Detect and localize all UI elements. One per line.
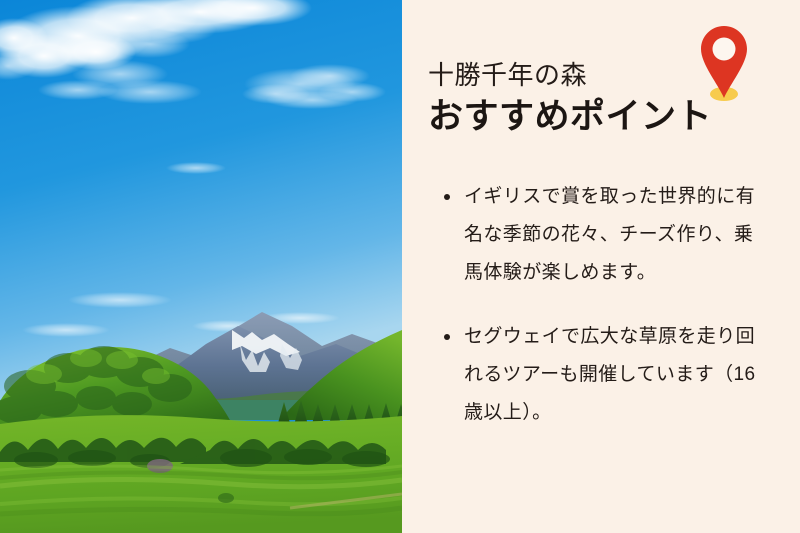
grass-tuft (218, 493, 234, 503)
highlights-list: イギリスで賞を取った世界的に有名な季節の花々、チーズ作り、乗馬体験が楽しめます。… (442, 178, 772, 432)
hero-photo (0, 0, 402, 533)
recommendation-card: 十勝千年の森 おすすめポイント イギリスで賞を取った世界的に有名な季節の花々、チ… (0, 0, 800, 533)
list-item-text: セグウェイで広大な草原を走り回れるツアーも開催しています（16歳以上）。 (464, 318, 772, 432)
pin-body (701, 26, 747, 98)
content-panel: 十勝千年の森 おすすめポイント イギリスで賞を取った世界的に有名な季節の花々、チ… (402, 0, 800, 533)
list-item: イギリスで賞を取った世界的に有名な季節の花々、チーズ作り、乗馬体験が楽しめます。 (442, 178, 772, 292)
landscape-illustration (0, 0, 402, 533)
map-pin-icon (698, 24, 750, 104)
list-item-text: イギリスで賞を取った世界的に有名な季節の花々、チーズ作り、乗馬体験が楽しめます。 (464, 178, 772, 292)
list-item: セグウェイで広大な草原を走り回れるツアーも開催しています（16歳以上）。 (442, 318, 772, 432)
pin-hole (713, 38, 736, 61)
